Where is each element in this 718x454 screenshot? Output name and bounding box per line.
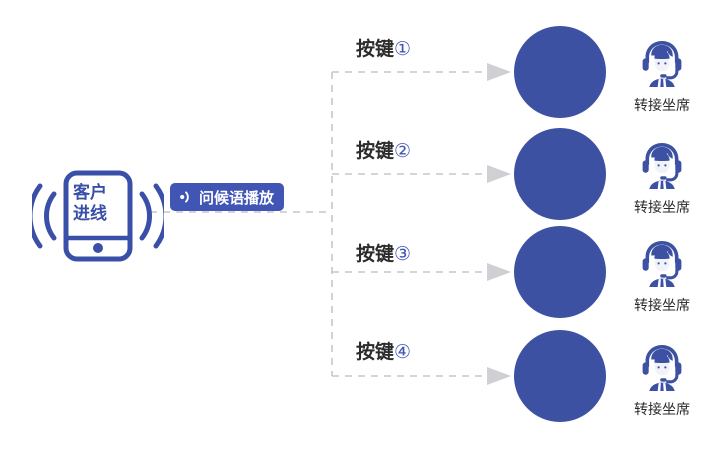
- key-label-3: 按键③: [356, 239, 411, 266]
- source-label-line2: 进线: [63, 204, 117, 225]
- branch-node-circle-3[interactable]: [514, 226, 606, 318]
- key-label-1-text: 按键: [356, 38, 394, 60]
- key-label-1: 按键①: [356, 34, 411, 61]
- agent-node-1: 转接坐席: [619, 38, 705, 115]
- key-label-4-text: 按键: [356, 341, 394, 363]
- key-label-1-number: ①: [394, 38, 411, 60]
- key-label-4-number: ④: [394, 341, 411, 363]
- headset-agent-icon: [619, 238, 705, 293]
- agent-node-3: 转接坐席: [619, 238, 705, 315]
- agent-node-2: 转接坐席: [619, 140, 705, 217]
- branch-node-circle-1[interactable]: [514, 26, 606, 118]
- phone-home-dot: [93, 243, 103, 253]
- speaker-sound-icon: [179, 190, 194, 204]
- arrowhead-branch-2: [487, 165, 511, 183]
- source-label-line1: 客户: [63, 183, 117, 204]
- headset-agent-icon: [619, 140, 705, 195]
- diagram-canvas: 客户 进线 问候语播放 按键①: [0, 0, 718, 454]
- key-label-4: 按键④: [356, 337, 411, 364]
- key-label-2: 按键②: [356, 136, 411, 163]
- arrowhead-branch-4: [487, 367, 511, 385]
- key-label-2-text: 按键: [356, 140, 394, 162]
- greeting-playback-badge[interactable]: 问候语播放: [170, 183, 284, 211]
- key-label-2-number: ②: [394, 140, 411, 162]
- headset-agent-icon: [619, 38, 705, 93]
- agent-caption-4: 转接坐席: [619, 399, 705, 419]
- headset-agent-icon: [619, 342, 705, 397]
- agent-caption-1: 转接坐席: [619, 95, 705, 115]
- arrowhead-branch-3: [487, 263, 511, 281]
- source-label: 客户 进线: [63, 183, 117, 225]
- greeting-playback-label: 问候语播放: [199, 187, 274, 208]
- key-label-3-text: 按键: [356, 243, 394, 265]
- branch-node-circle-4[interactable]: [514, 330, 606, 422]
- key-label-3-number: ③: [394, 243, 411, 265]
- agent-caption-2: 转接坐席: [619, 197, 705, 217]
- branch-node-circle-2[interactable]: [514, 128, 606, 220]
- arrowhead-branch-1: [487, 63, 511, 81]
- agent-caption-3: 转接坐席: [619, 295, 705, 315]
- agent-node-4: 转接坐席: [619, 342, 705, 419]
